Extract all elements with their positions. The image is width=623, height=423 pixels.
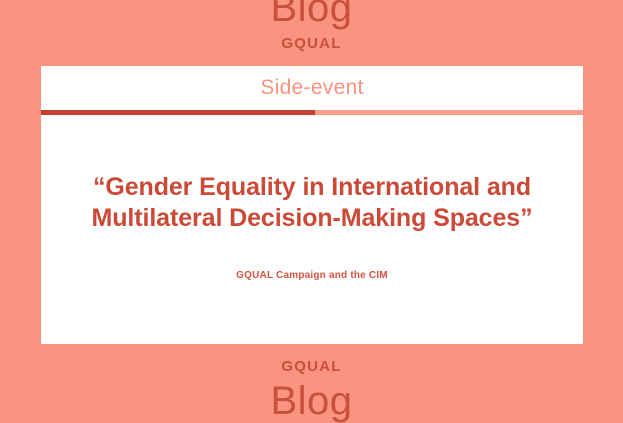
progress-bar-fill [41,110,315,115]
event-card: Side-event “Gender Equality in Internati… [41,66,583,344]
background-header-bottom: GQUAL Blog [0,351,623,407]
gqual-logo-bottom: GQUAL [0,359,623,374]
gqual-logo-top: GQUAL [0,36,623,51]
event-title: “Gender Equality in International and Mu… [71,172,553,233]
card-body: “Gender Equality in International and Mu… [41,115,583,344]
category-label-side-event: Side-event [260,76,363,100]
event-organizers: GQUAL Campaign and the CIM [236,270,388,281]
background-header-top: Blog GQUAL [0,0,623,51]
progress-bar [41,110,583,115]
site-title-top: Blog [0,0,623,28]
card-header: Side-event [41,66,583,110]
site-title-bottom: Blog [0,381,623,421]
